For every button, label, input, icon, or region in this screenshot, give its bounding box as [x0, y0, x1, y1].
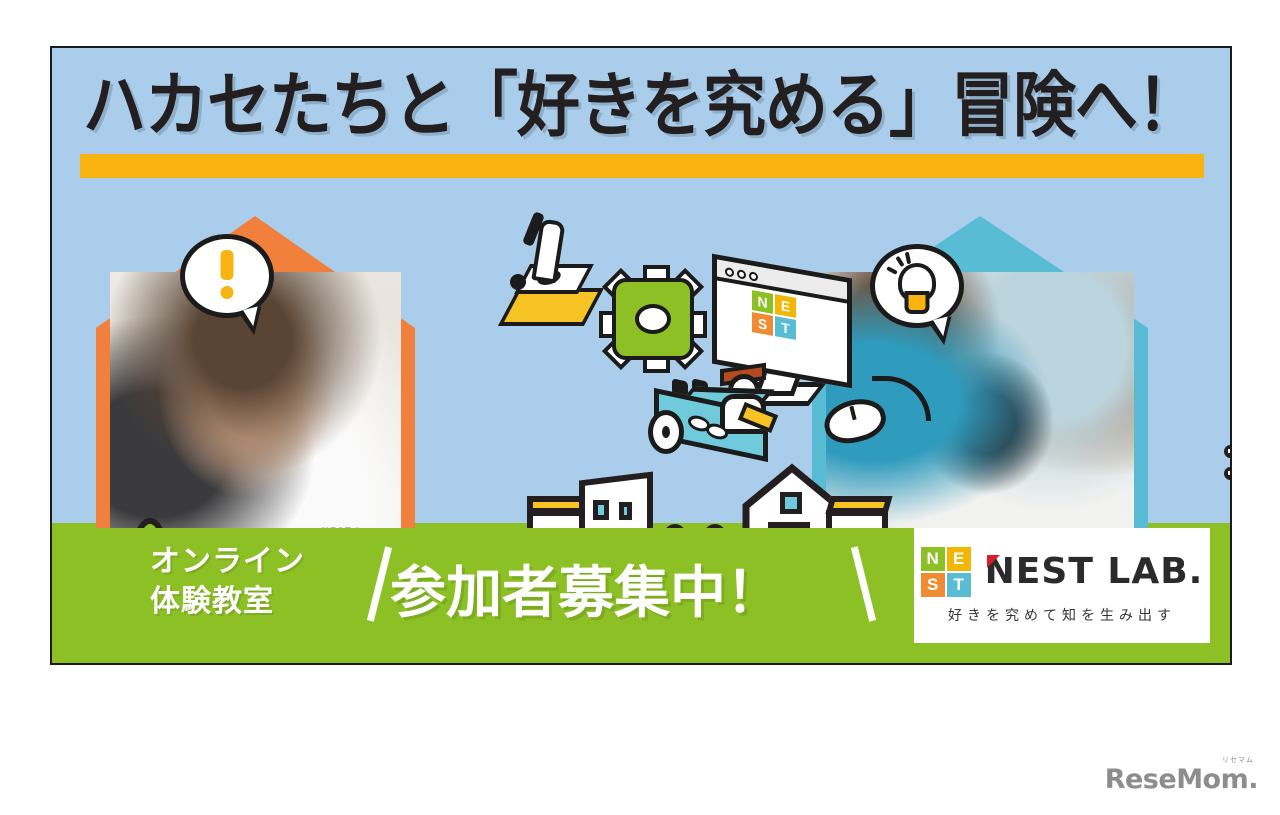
cta-subtitle-line2: 体験教室	[150, 582, 305, 622]
monitor-nest-logo: N E S T	[752, 290, 796, 340]
lightbulb-bubble-icon	[870, 244, 964, 328]
nest-lab-wordmark-text: NEST LAB.	[985, 551, 1204, 592]
monitor-nest-t: T	[775, 316, 796, 340]
monitor-nest-s: S	[752, 312, 773, 336]
watermark-ruby: リセマム	[1222, 755, 1254, 765]
nest-logo-n: N	[921, 547, 945, 571]
robot-car-icon	[644, 366, 784, 462]
nest-logo-s: S	[921, 573, 945, 597]
nest-lab-tagline: 好きを究めて知を生み出す	[948, 605, 1176, 625]
monitor-nest-e: E	[775, 294, 796, 318]
watermark-text: ReseMom.	[1105, 764, 1258, 795]
gear-icon	[612, 278, 694, 360]
resemom-watermark: リセマム ReseMom.	[1105, 764, 1258, 795]
nest-lab-logo-card: N E S T NEST LAB. 好きを究めて知を生み出す	[914, 528, 1210, 643]
headline-block: ハカセたちと「好きを究める」冒険へ！	[52, 70, 1230, 133]
cta-subtitle: オンライン 体験教室	[150, 542, 305, 621]
slash-left-icon	[367, 546, 392, 621]
nest-logo-e: E	[947, 547, 971, 571]
computer-mouse-icon	[824, 400, 886, 442]
cta-headline: 参加者募集中！	[390, 548, 782, 629]
microscope-icon	[504, 216, 594, 331]
nest-logo-t: T	[947, 573, 971, 597]
cta-subtitle-line1: オンライン	[150, 542, 305, 582]
utility-pole-icon	[1224, 431, 1232, 581]
nest-lab-wordmark: NEST LAB.	[985, 551, 1204, 592]
slash-right-icon	[851, 546, 876, 621]
exclamation-bubble-icon	[180, 234, 274, 318]
nest-logo-grid: N E S T	[921, 547, 971, 597]
promo-banner: ハカセたちと「好きを究める」冒険へ！ NEST L	[50, 46, 1232, 665]
headline-underline	[80, 154, 1204, 178]
page-title: ハカセたちと「好きを究める」冒険へ！	[52, 70, 1230, 141]
red-accent-icon	[987, 555, 1000, 568]
monitor-nest-n: N	[752, 290, 773, 314]
